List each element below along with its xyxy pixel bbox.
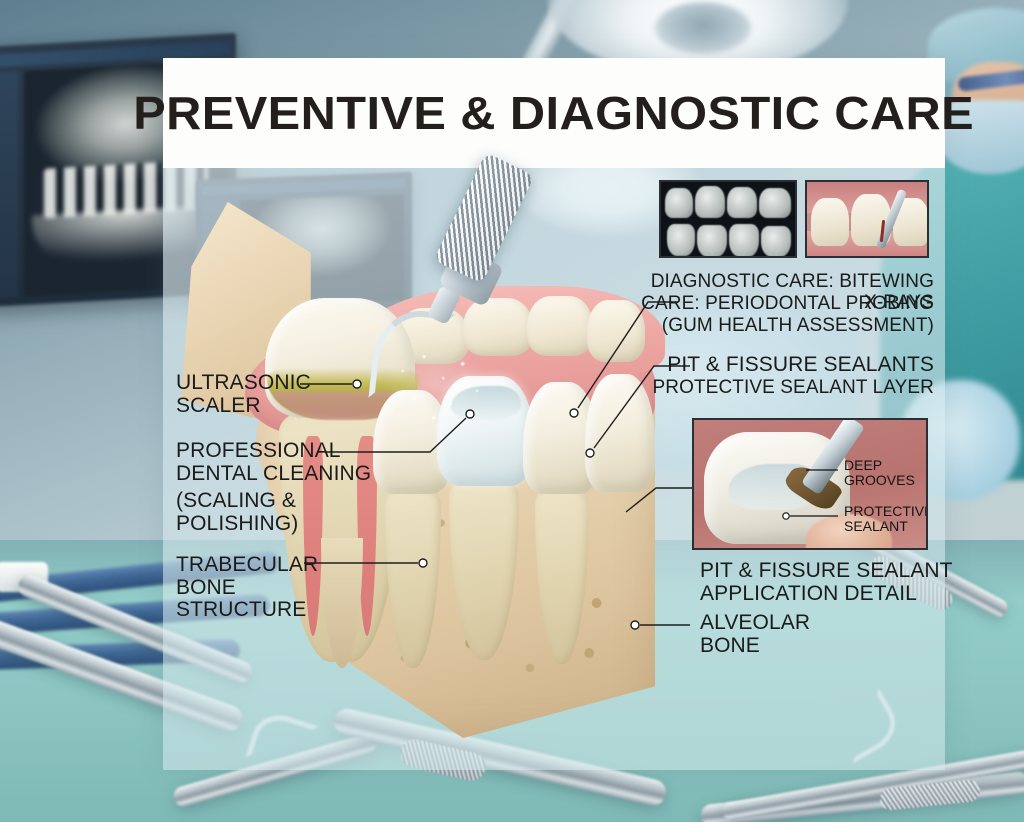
title-band: PREVENTIVE & DIAGNOSTIC CARE xyxy=(163,58,945,168)
label-trabecular-bone-structure: TRABECULAR BONE STRUCTURE xyxy=(176,554,318,622)
probe-tooth-1 xyxy=(811,198,849,246)
ultrasonic-scaler-handle xyxy=(433,152,534,284)
dental-light-core xyxy=(655,2,751,54)
xray-lower-tooth-1 xyxy=(667,224,695,256)
xray-lower-tooth-4 xyxy=(761,226,791,257)
upper-molar-3 xyxy=(527,296,593,356)
xray-upper-tooth-4 xyxy=(759,188,791,218)
xray-upper-tooth-1 xyxy=(665,188,693,218)
label-protective-sealant-layer: PROTECTIVE SEALANT LAYER xyxy=(650,378,934,399)
sealant-application-inset: DEEP GROOVES PROTECTIVE SEALANT xyxy=(692,418,928,550)
label-professional-dental-cleaning-sub: (SCALING & POLISHING) xyxy=(176,490,298,535)
page-title: PREVENTIVE & DIAGNOSTIC CARE xyxy=(134,86,975,140)
label-periodontal-probing: CARE: PERIODONTAL PROBING xyxy=(638,294,934,315)
protective-sealant-label: PROTECTIVE SEALANT xyxy=(844,504,928,535)
xray-lower-tooth-2 xyxy=(697,225,727,257)
label-professional-dental-cleaning: PROFESSIONAL DENTAL CLEANING xyxy=(176,440,371,485)
label-pit-fissure-sealants: PIT & FISSURE SEALANTS xyxy=(650,354,934,377)
bitewing-xray-inset xyxy=(659,180,797,258)
label-alveolar-bone: ALVEOLAR BONE xyxy=(700,612,810,657)
upper-molar-4 xyxy=(587,300,645,362)
xray-upper-tooth-2 xyxy=(695,186,725,218)
label-ultrasonic-scaler: ULTRASONIC SCALER xyxy=(176,372,311,417)
xray-lower-tooth-3 xyxy=(729,224,759,257)
periodontal-probing-inset xyxy=(805,180,929,258)
deep-grooves-label: DEEP GROOVES xyxy=(844,458,915,489)
premolar-crown-c xyxy=(585,374,655,492)
label-sealant-application-detail: PIT & FISSURE SEALANT APPLICATION DETAIL xyxy=(700,560,953,605)
xray-upper-tooth-3 xyxy=(727,187,757,218)
monitor-sidebar xyxy=(0,71,18,298)
label-periodontal-probing-sub: (GUM HEALTH ASSESSMENT) xyxy=(638,316,934,337)
